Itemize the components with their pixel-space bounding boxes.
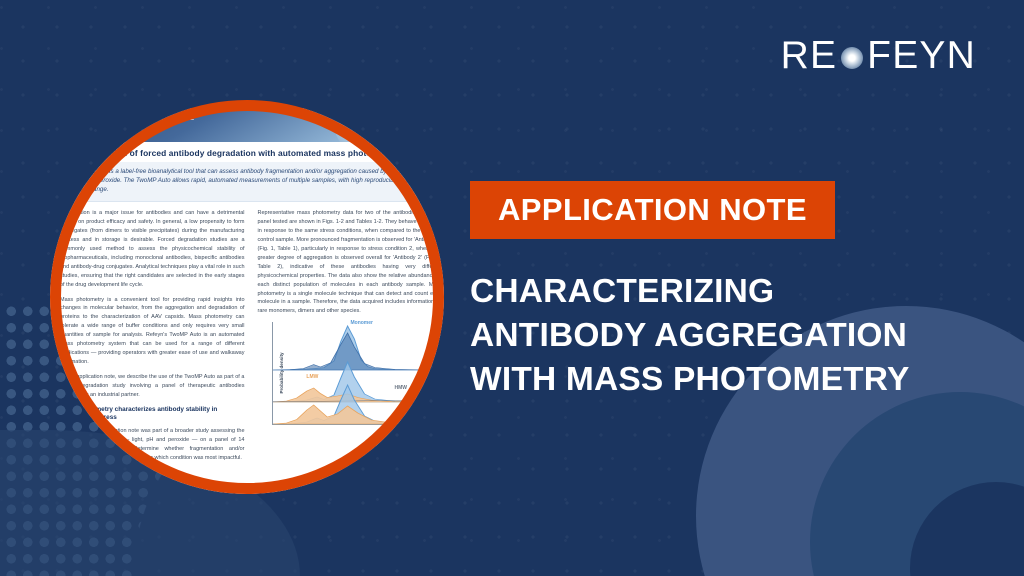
page-title-line-2: ANTIBODY AGGREGATION [470, 314, 1010, 358]
application-note-banner: APPLICATION NOTE Characterization of for… [0, 0, 1024, 576]
page-title-line-1: CHARACTERIZING [470, 270, 1010, 314]
logo-text-left: RE [781, 36, 838, 75]
orange-circle-frame [50, 100, 444, 494]
logo-text-right: FEYN [867, 36, 976, 75]
page-title: CHARACTERIZING ANTIBODY AGGREGATION WITH… [470, 270, 1010, 403]
page-title-line-3: WITH MASS PHOTOMETRY [470, 358, 1010, 402]
application-note-badge: APPLICATION NOTE [470, 181, 835, 239]
refeyn-logo: RE FEYN [781, 36, 976, 75]
refeyn-glow-dot-icon [841, 47, 863, 69]
